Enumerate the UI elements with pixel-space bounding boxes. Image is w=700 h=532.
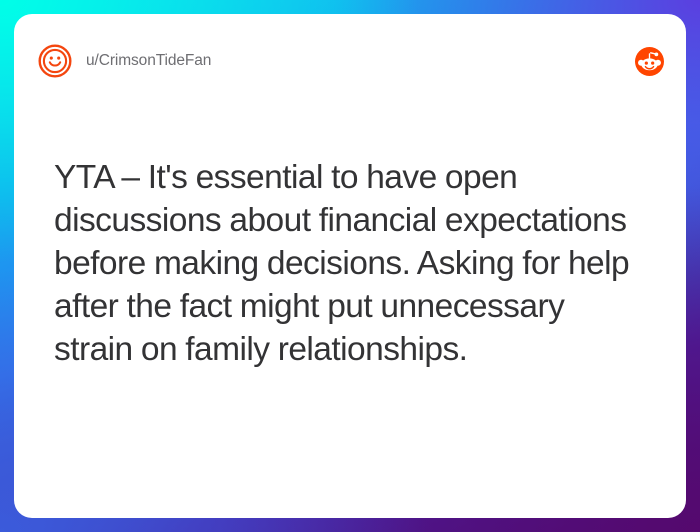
username-label: u/CrimsonTideFan [86,52,211,70]
post-header: u/CrimsonTideFan [38,38,664,84]
post-body-text: YTA – It's essential to have open discus… [54,156,642,371]
smiley-face-circle-icon[interactable] [38,44,72,78]
reddit-snoo-icon[interactable] [635,47,664,76]
post-card: u/CrimsonTideFan YTA – It's essential to… [14,14,686,518]
